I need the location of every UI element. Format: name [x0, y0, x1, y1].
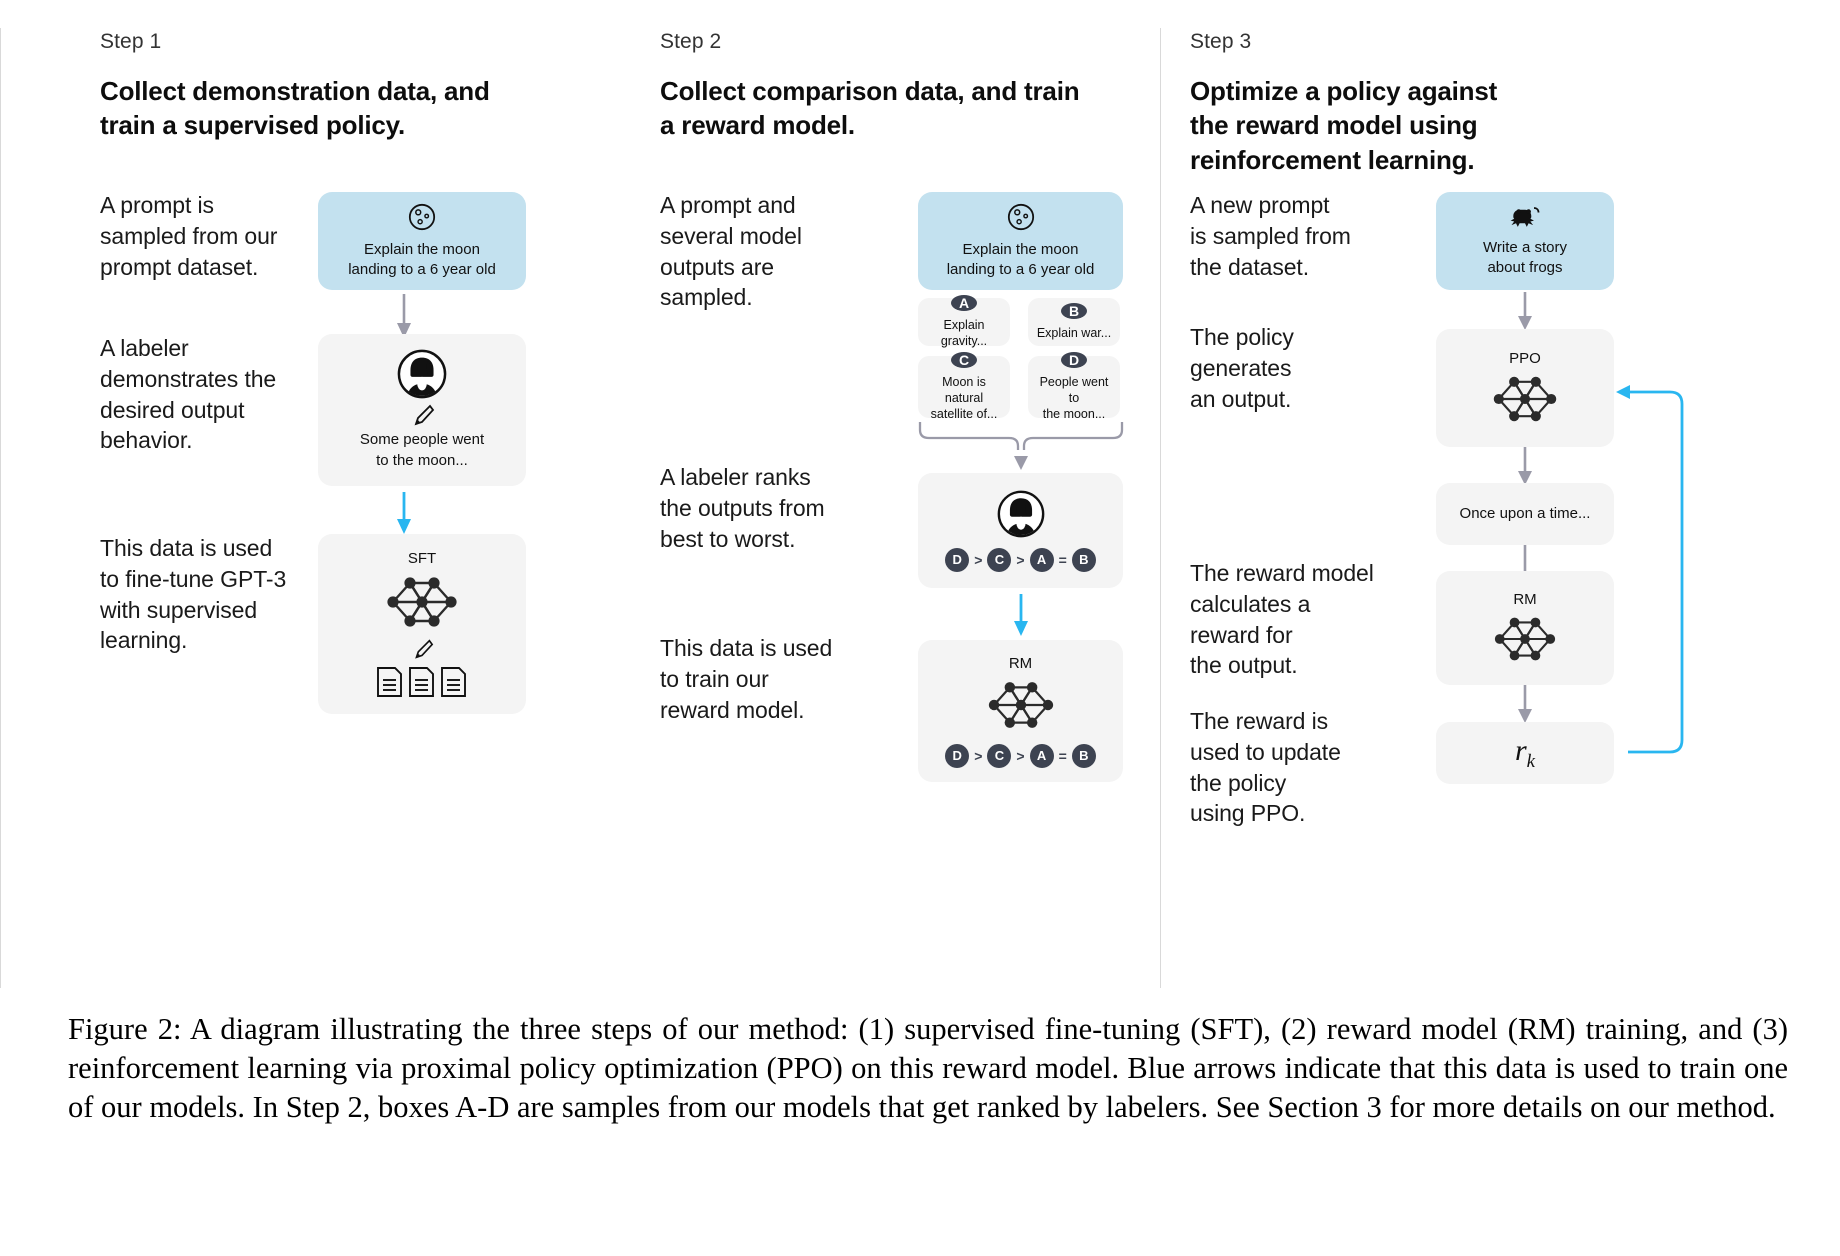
rank-op-2: > [1016, 552, 1024, 568]
step-2-ranking-box[interactable]: D > C > A = B [918, 473, 1123, 588]
moon-icon [407, 202, 437, 232]
rank-op-1: > [974, 552, 982, 568]
neural-network-icon [1486, 371, 1564, 427]
step-1-desc-2: A labeler demonstrates the desired outpu… [100, 333, 320, 456]
step-1-desc-1: A prompt is sampled from our prompt data… [100, 190, 310, 282]
step-2-prompt-box[interactable]: Explain the moon landing to a 6 year old [918, 192, 1123, 290]
step-2-rm-box[interactable]: RM [918, 640, 1123, 782]
step-1-label: Step 1 [100, 30, 161, 54]
labeler-avatar-icon [997, 490, 1045, 538]
step-1-sft-box[interactable]: SFT [318, 534, 526, 714]
arrow-blue-1 [386, 490, 422, 536]
sample-text-d: People went to the moon... [1034, 374, 1114, 423]
step-1-labeler-text: Some people went to the moon... [360, 430, 484, 471]
step-3-column: Step 3 Optimize a policy against the rew… [1190, 0, 1750, 1000]
neural-network-icon [981, 676, 1061, 734]
sample-box-a[interactable]: A Explain gravity... [918, 298, 1010, 346]
step-3-ppo-caption: PPO [1509, 350, 1541, 367]
step-3-reward-box[interactable]: rk [1436, 722, 1614, 784]
figure-diagram: Step 1 Collect demonstration data, and t… [0, 0, 1840, 1000]
arrow-gray-5 [1507, 685, 1543, 725]
pencil-icon [409, 402, 435, 428]
neural-network-icon [379, 571, 465, 633]
sample-box-b[interactable]: B Explain war... [1028, 298, 1120, 346]
rank-item-1: D [945, 548, 969, 572]
rank-op-1: > [974, 748, 982, 764]
sample-badge-d: D [1061, 352, 1087, 368]
rank-item-2: C [987, 744, 1011, 768]
rank-item-3: A [1030, 548, 1054, 572]
step-1-prompt-box[interactable]: Explain the moon landing to a 6 year old [318, 192, 526, 290]
step-3-ppo-box[interactable]: PPO [1436, 329, 1614, 447]
rank-op-2: > [1016, 748, 1024, 764]
reward-symbol: r [1515, 734, 1527, 767]
labeler-avatar-icon [397, 349, 447, 399]
column-divider-1 [0, 28, 1, 988]
sample-badge-b: B [1061, 303, 1087, 319]
rank-op-3: = [1059, 748, 1067, 764]
arrow-gray-2 [1507, 292, 1543, 332]
neural-network-icon [1487, 612, 1563, 666]
step-2-desc-2: A labeler ranks the outputs from best to… [660, 462, 880, 554]
reward-subscript: k [1527, 751, 1535, 772]
pencil-icon [410, 637, 434, 661]
step-2-title: Collect comparison data, and train a rew… [660, 74, 1080, 143]
reward-value: rk [1515, 734, 1535, 773]
sample-text-b: Explain war... [1037, 325, 1111, 341]
rank-op-3: = [1059, 552, 1067, 568]
moon-icon [1006, 202, 1036, 232]
step-1-column: Step 1 Collect demonstration data, and t… [100, 0, 660, 1000]
step-2-rm-caption: RM [1009, 655, 1032, 672]
step-2-desc-3: This data is used to train our reward mo… [660, 633, 870, 725]
brace-merge-arrow [916, 420, 1126, 472]
step-3-output-box[interactable]: Once upon a time... [1436, 483, 1614, 545]
step-2-label: Step 2 [660, 30, 721, 54]
step-3-title: Optimize a policy against the reward mod… [1190, 74, 1530, 177]
step-3-label: Step 3 [1190, 30, 1251, 54]
sample-box-c[interactable]: C Moon is natural satellite of... [918, 356, 1010, 418]
step-3-desc-4: The reward is used to update the policy … [1190, 706, 1390, 829]
rank-item-4: B [1072, 744, 1096, 768]
rank-item-1: D [945, 744, 969, 768]
arrow-blue-feedback-loop [1608, 380, 1688, 756]
step-3-rm-box[interactable]: RM [1436, 571, 1614, 685]
figure-caption: Figure 2: A diagram illustrating the thr… [68, 1010, 1788, 1127]
sample-text-c: Moon is natural satellite of... [924, 374, 1004, 423]
arrow-blue-2 [1003, 592, 1039, 638]
rank-item-4: B [1072, 548, 1096, 572]
rank-item-3: A [1030, 744, 1054, 768]
arrow-gray-3 [1507, 447, 1543, 487]
step-3-desc-3: The reward model calculates a reward for… [1190, 558, 1400, 681]
step-1-prompt-text: Explain the moon landing to a 6 year old [348, 240, 496, 281]
step-1-sft-caption: SFT [408, 550, 436, 567]
ranking-row: D > C > A = B [945, 744, 1096, 768]
step-2-desc-1: A prompt and several model outputs are s… [660, 190, 870, 313]
documents-icon [375, 666, 469, 698]
sample-text-a: Explain gravity... [924, 317, 1004, 350]
step-1-title: Collect demonstration data, and train a … [100, 74, 530, 143]
step-3-prompt-box[interactable]: Write a story about frogs [1436, 192, 1614, 290]
step-2-prompt-text: Explain the moon landing to a 6 year old [947, 240, 1095, 281]
step-3-prompt-text: Write a story about frogs [1483, 238, 1567, 279]
step-1-labeler-box[interactable]: Some people went to the moon... [318, 334, 526, 486]
step-3-desc-2: The policy generates an output. [1190, 322, 1390, 414]
frog-icon [1507, 204, 1543, 230]
step-2-column: Step 2 Collect comparison data, and trai… [660, 0, 1220, 1000]
sample-badge-c: C [951, 352, 977, 368]
watermark-overlay: 知乎 @知行者 [1460, 1155, 1739, 1216]
sample-badge-a: A [951, 295, 977, 311]
step-3-desc-1: A new prompt is sampled from the dataset… [1190, 190, 1390, 282]
step-1-desc-3: This data is used to fine-tune GPT-3 wit… [100, 533, 320, 656]
arrow-gray-1 [386, 292, 422, 340]
step-3-rm-caption: RM [1513, 591, 1536, 608]
ranking-row: D > C > A = B [945, 548, 1096, 572]
rank-item-2: C [987, 548, 1011, 572]
sample-box-d[interactable]: D People went to the moon... [1028, 356, 1120, 418]
step-3-output-text: Once upon a time... [1460, 504, 1591, 524]
